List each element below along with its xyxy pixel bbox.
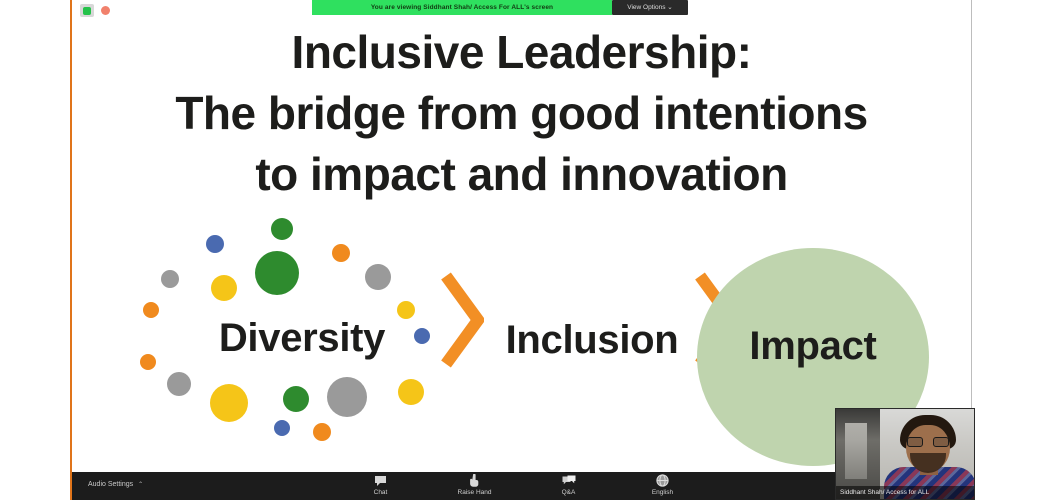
maximize-icon[interactable]: [80, 4, 94, 17]
participant-name-label: Siddhant Shah/ Access for ALL: [836, 486, 974, 499]
toolbar-item-raise-hand[interactable]: Raise Hand: [449, 473, 501, 497]
toolbar-item-language[interactable]: English: [637, 473, 689, 497]
toolbar-label-language: English: [652, 488, 673, 497]
inclusion-label: Inclusion: [482, 318, 702, 363]
diversity-dot: [211, 275, 237, 301]
diversity-dot: [274, 420, 290, 436]
impact-label: Impact: [697, 324, 929, 369]
presentation-slide: Inclusive Leadership: The bridge from go…: [72, 0, 971, 472]
close-icon[interactable]: [101, 6, 110, 15]
diversity-dot: [161, 270, 179, 288]
diversity-dot: [332, 244, 350, 262]
title-line-3: to impact and innovation: [112, 144, 931, 205]
globe-icon: [656, 473, 669, 487]
toolbar-label-qa: Q&A: [562, 488, 576, 497]
raise-hand-icon: [469, 473, 480, 487]
toolbar-label-chat: Chat: [374, 488, 388, 497]
diversity-dot: [255, 251, 299, 295]
view-options-label: View Options: [627, 4, 665, 11]
title-line-2: The bridge from good intentions: [112, 83, 931, 144]
diversity-label: Diversity: [162, 316, 442, 361]
screen-share-banner: You are viewing Siddhant Shah/ Access Fo…: [312, 0, 612, 15]
diversity-dot: [271, 218, 293, 240]
title-line-1: Inclusive Leadership:: [112, 22, 931, 83]
diversity-dot: [210, 384, 248, 422]
diversity-dot: [140, 354, 156, 370]
diversity-dot: [143, 302, 159, 318]
diversity-dot: [313, 423, 331, 441]
toolbar-item-chat[interactable]: Chat: [355, 473, 407, 497]
diversity-dot: [398, 379, 424, 405]
toolbar-item-qa[interactable]: Q&A: [543, 473, 595, 497]
participant-video-tile[interactable]: Siddhant Shah/ Access for ALL: [835, 408, 975, 500]
chevron-right-icon-1: [440, 272, 484, 368]
view-options-button[interactable]: View Options ⌄: [612, 0, 688, 15]
qa-icon: [562, 473, 576, 487]
toolbar-label-raise-hand: Raise Hand: [458, 488, 492, 497]
diversity-dot: [206, 235, 224, 253]
diversity-stage: Diversity: [162, 218, 442, 458]
diversity-dot: [167, 372, 191, 396]
slide-title: Inclusive Leadership: The bridge from go…: [72, 22, 971, 206]
diversity-dot: [365, 264, 391, 290]
diversity-dot: [327, 377, 367, 417]
chevron-down-icon: ⌄: [667, 4, 672, 11]
chat-icon: [374, 473, 387, 487]
window-controls[interactable]: [80, 4, 110, 17]
diversity-dot: [283, 386, 309, 412]
